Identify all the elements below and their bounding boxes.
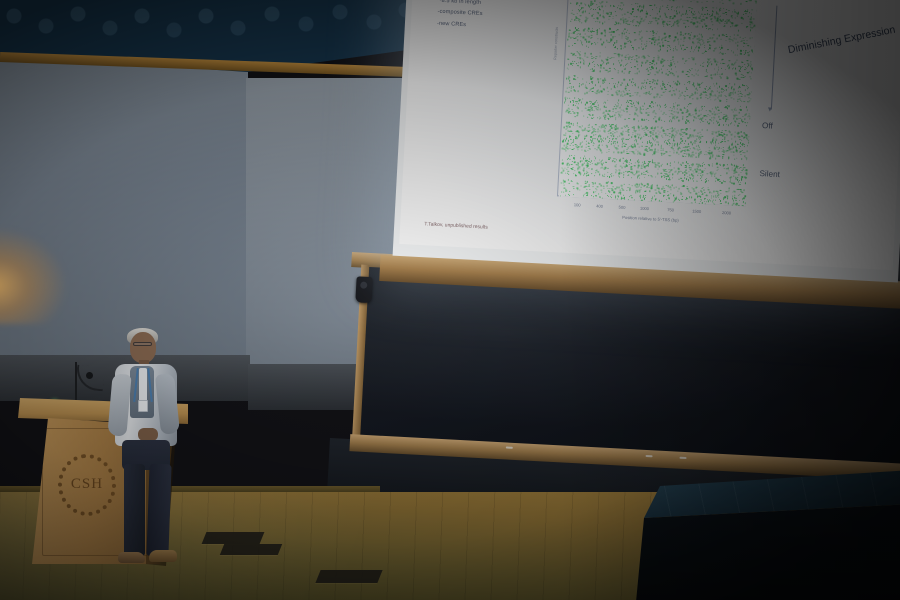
heatmap-band	[559, 179, 747, 207]
speaker-name-badge	[138, 400, 148, 412]
heatmap-x-tick: 100	[574, 202, 581, 207]
label-off: Off	[762, 121, 773, 131]
microphone-head-icon	[86, 372, 93, 379]
gradient-arrow-line	[771, 6, 778, 110]
heatmap-x-tick: 1500	[692, 208, 701, 213]
heatmap-x-tick: 400	[596, 203, 603, 208]
speaker-right-leg	[146, 464, 171, 557]
heatmap-x-label: Position relative to 5'-TSS (bp)	[622, 215, 679, 223]
screen-surface: ~1200 individual chromatin ~8.5 kb in le…	[399, 0, 900, 270]
bench-front-face	[636, 504, 900, 600]
heatmap-x-tick: 1000	[640, 206, 649, 211]
heatmap-band	[561, 121, 749, 160]
lecture-hall-photo: ~1200 individual chromatin ~8.5 kb in le…	[0, 0, 900, 600]
speaker-head	[130, 332, 156, 363]
heatmap-y-label: Reporter constructs	[553, 26, 559, 59]
chalk-piece	[506, 446, 513, 449]
speaker-left-leg	[124, 464, 145, 556]
projection-screen: ~1200 individual chromatin ~8.5 kb in le…	[392, 0, 900, 292]
slide-credit: T.Talkov, unpublished results	[424, 221, 488, 230]
expression-scale: High Diminishing Expression Off Silent	[753, 0, 900, 229]
floor-access-panel	[220, 544, 282, 555]
heatmap-x-tick: 2000	[722, 210, 731, 215]
floor-access-panel	[315, 570, 382, 583]
slide-bullet-list: ~1200 individual chromatin ~8.5 kb in le…	[437, 0, 569, 37]
floor-access-panel	[202, 532, 265, 544]
heatmap-plot-area	[559, 0, 758, 206]
label-diminishing-expression: Diminishing Expression	[787, 24, 896, 57]
camera-device-icon	[355, 276, 372, 303]
speaker-left-shoe	[118, 552, 145, 563]
speaker-person	[108, 328, 188, 566]
chalk-piece	[679, 457, 686, 460]
heatmap-x-tick: 750	[667, 207, 674, 212]
speaker-right-shoe	[149, 550, 177, 562]
heatmap-figure: Reporter constructs 10040050010007501500…	[543, 0, 761, 236]
foreground-bench	[636, 470, 900, 600]
wall-sconce-light	[0, 228, 66, 324]
camera-lens-icon	[360, 281, 367, 288]
label-silent: Silent	[759, 169, 780, 179]
heatmap-x-tick: 500	[618, 205, 625, 210]
chalk-piece	[645, 455, 652, 458]
gradient-arrow-head-icon	[768, 107, 772, 111]
speaker-glasses	[133, 342, 152, 346]
